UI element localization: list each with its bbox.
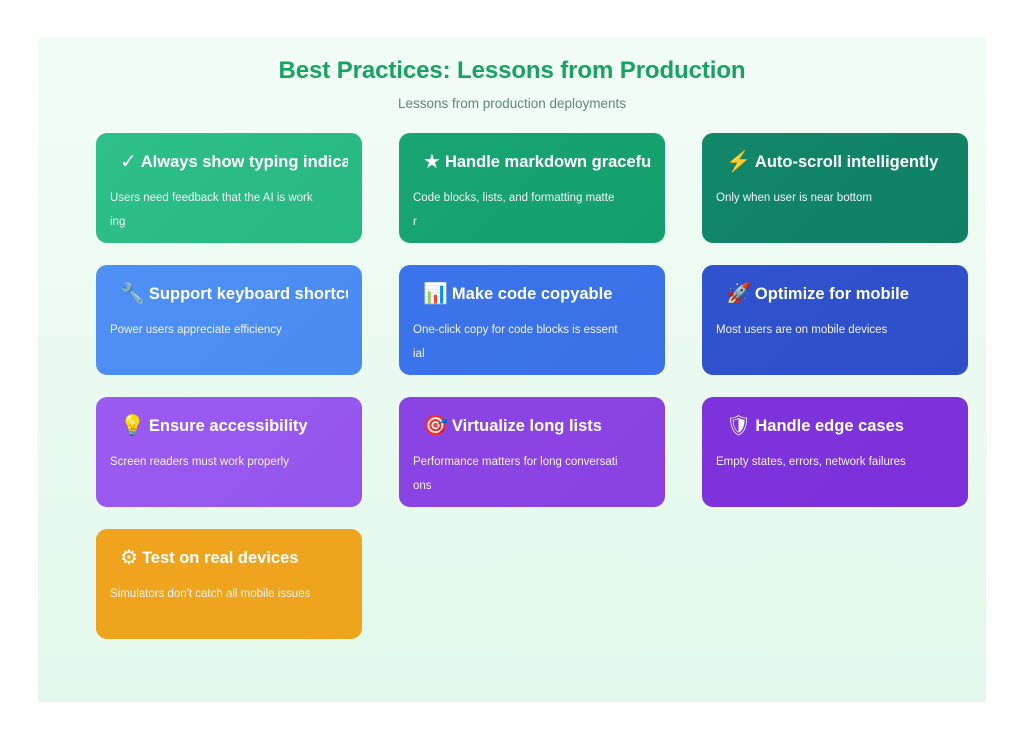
lightning-bolt-icon: ⚡ <box>726 149 751 175</box>
practice-card[interactable]: ⚙Test on real devicesSimulators don't ca… <box>96 529 362 639</box>
practice-card-header: ⚡Auto-scroll intelligently <box>716 149 954 175</box>
practice-card[interactable]: ✓Always show typing indicaUsers need fee… <box>96 133 362 243</box>
practice-card-title: Test on real devices <box>142 545 299 571</box>
practice-card[interactable]: 🔧Support keyboard shortcutPower users ap… <box>96 265 362 375</box>
practice-card-header: 💡Ensure accessibility <box>110 413 348 439</box>
practice-card-description: Users need feedback that the AI is worki… <box>110 186 315 234</box>
light-bulb-icon: 💡 <box>120 413 145 439</box>
practice-card-description: Most users are on mobile devices <box>716 318 921 342</box>
practice-card-title: Optimize for mobile <box>755 281 909 307</box>
practice-card-description: Empty states, errors, network failures <box>716 450 921 474</box>
practice-card-header: 🔧Support keyboard shortcut <box>110 281 348 307</box>
practice-card-description: Power users appreciate efficiency <box>110 318 315 342</box>
practice-card-title: Virtualize long lists <box>452 413 602 439</box>
wrench-icon: 🔧 <box>120 281 145 307</box>
practice-card[interactable]: 🚀Optimize for mobileMost users are on mo… <box>702 265 968 375</box>
practice-card[interactable]: 📊Make code copyableOne-click copy for co… <box>399 265 665 375</box>
practice-card-description: One-click copy for code blocks is essent… <box>413 318 618 366</box>
practice-card-description: Performance matters for long conversatio… <box>413 450 618 498</box>
best-practices-grid: ✓Always show typing indicaUsers need fee… <box>96 133 966 639</box>
practice-card-description: Only when user is near bottom <box>716 186 921 210</box>
practice-card-title: Handle markdown gracefull <box>445 149 651 175</box>
star-icon: ★ <box>423 149 441 175</box>
page-title: Best Practices: Lessons from Production <box>38 56 986 86</box>
practice-card-header: ⚙Test on real devices <box>110 545 348 571</box>
practice-card-description: Code blocks, lists, and formatting matte… <box>413 186 618 234</box>
shield-icon: 🛡 <box>726 413 751 439</box>
slide-header: Best Practices: Lessons from Production … <box>38 38 986 113</box>
gear-icon: ⚙ <box>120 545 138 571</box>
practice-card-title: Make code copyable <box>452 281 612 307</box>
practice-card[interactable]: 🎯Virtualize long listsPerformance matter… <box>399 397 665 507</box>
practice-card-header: 📊Make code copyable <box>413 281 651 307</box>
practice-card[interactable]: ⚡Auto-scroll intelligentlyOnly when user… <box>702 133 968 243</box>
practice-card[interactable]: 🛡Handle edge casesEmpty states, errors, … <box>702 397 968 507</box>
rocket-icon: 🚀 <box>726 281 751 307</box>
practice-card-description: Simulators don't catch all mobile issues <box>110 582 315 606</box>
check-mark-icon: ✓ <box>120 149 137 175</box>
page-subtitle: Lessons from production deployments <box>38 86 986 113</box>
practice-card-header: ★Handle markdown gracefull <box>413 149 651 175</box>
practice-card[interactable]: 💡Ensure accessibilityScreen readers must… <box>96 397 362 507</box>
practice-card-title: Always show typing indica <box>141 149 348 175</box>
practice-card-description: Screen readers must work properly <box>110 450 315 474</box>
slide-container: Best Practices: Lessons from Production … <box>38 38 986 702</box>
practice-card-header: 🎯Virtualize long lists <box>413 413 651 439</box>
target-icon: 🎯 <box>423 413 448 439</box>
practice-card-title: Support keyboard shortcut <box>149 281 348 307</box>
practice-card-title: Auto-scroll intelligently <box>755 149 938 175</box>
bar-chart-icon: 📊 <box>423 281 448 307</box>
practice-card-title: Handle edge cases <box>755 413 904 439</box>
practice-card[interactable]: ★Handle markdown gracefullCode blocks, l… <box>399 133 665 243</box>
practice-card-title: Ensure accessibility <box>149 413 308 439</box>
practice-card-header: ✓Always show typing indica <box>110 149 348 175</box>
practice-card-header: 🚀Optimize for mobile <box>716 281 954 307</box>
practice-card-header: 🛡Handle edge cases <box>716 413 954 439</box>
